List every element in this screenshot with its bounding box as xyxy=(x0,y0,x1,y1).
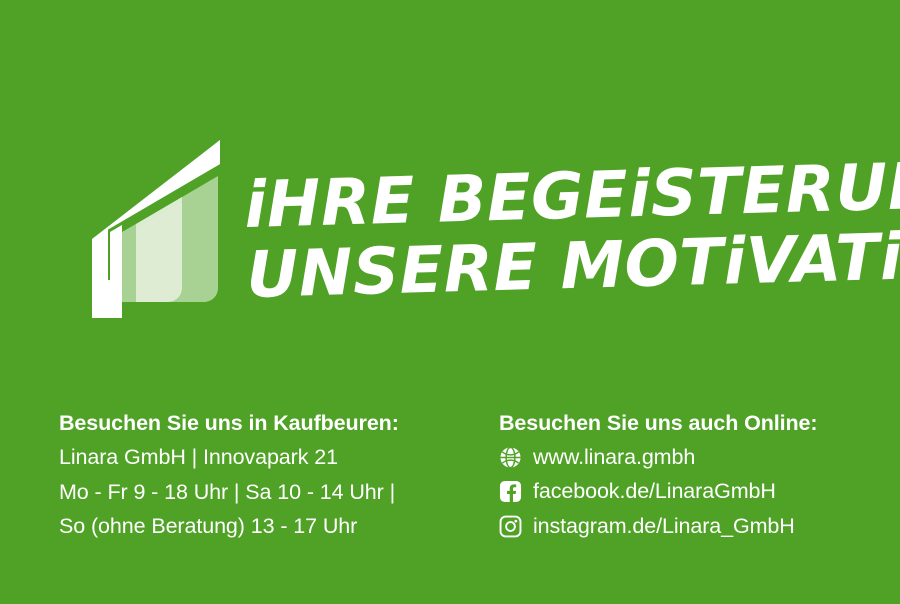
facebook-link[interactable]: facebook.de/LinaraGmbH xyxy=(499,475,889,510)
logo-frame-inner-edge xyxy=(110,225,122,318)
local-hours-line-2: So (ohne Beratung) 13 - 17 Uhr xyxy=(59,509,479,544)
logo-panel-light-top xyxy=(136,201,182,302)
contact-column-online: Besuchen Sie uns auch Online: www.lina xyxy=(499,406,889,544)
facebook-icon xyxy=(499,480,522,503)
instagram-label: instagram.de/Linara_GmbH xyxy=(533,516,795,538)
online-heading: Besuchen Sie uns auch Online: xyxy=(499,406,889,440)
linara-window-logo xyxy=(52,128,242,320)
contact-column-local: Besuchen Sie uns in Kaufbeuren: Linara G… xyxy=(59,406,479,544)
local-heading: Besuchen Sie uns in Kaufbeuren: xyxy=(59,406,479,440)
website-label: www.linara.gmbh xyxy=(533,447,695,469)
facebook-label: facebook.de/LinaraGmbH xyxy=(533,481,776,503)
contact-section: Besuchen Sie uns in Kaufbeuren: Linara G… xyxy=(0,406,900,566)
globe-icon xyxy=(499,446,522,469)
instagram-icon xyxy=(499,515,522,538)
advertisement-banner: iHRE BEGEiSTERUNG iST UNSERE MOTiVATiON … xyxy=(0,0,900,604)
local-address-line: Linara GmbH | Innovapark 21 xyxy=(59,440,479,475)
website-link[interactable]: www.linara.gmbh xyxy=(499,440,889,475)
local-hours-line-1: Mo - Fr 9 - 18 Uhr | Sa 10 - 14 Uhr | xyxy=(59,475,479,510)
logo-panel-left-strip xyxy=(122,224,136,302)
instagram-link[interactable]: instagram.de/Linara_GmbH xyxy=(499,509,889,544)
headline: iHRE BEGEiSTERUNG iST UNSERE MOTiVATiON xyxy=(243,152,863,312)
